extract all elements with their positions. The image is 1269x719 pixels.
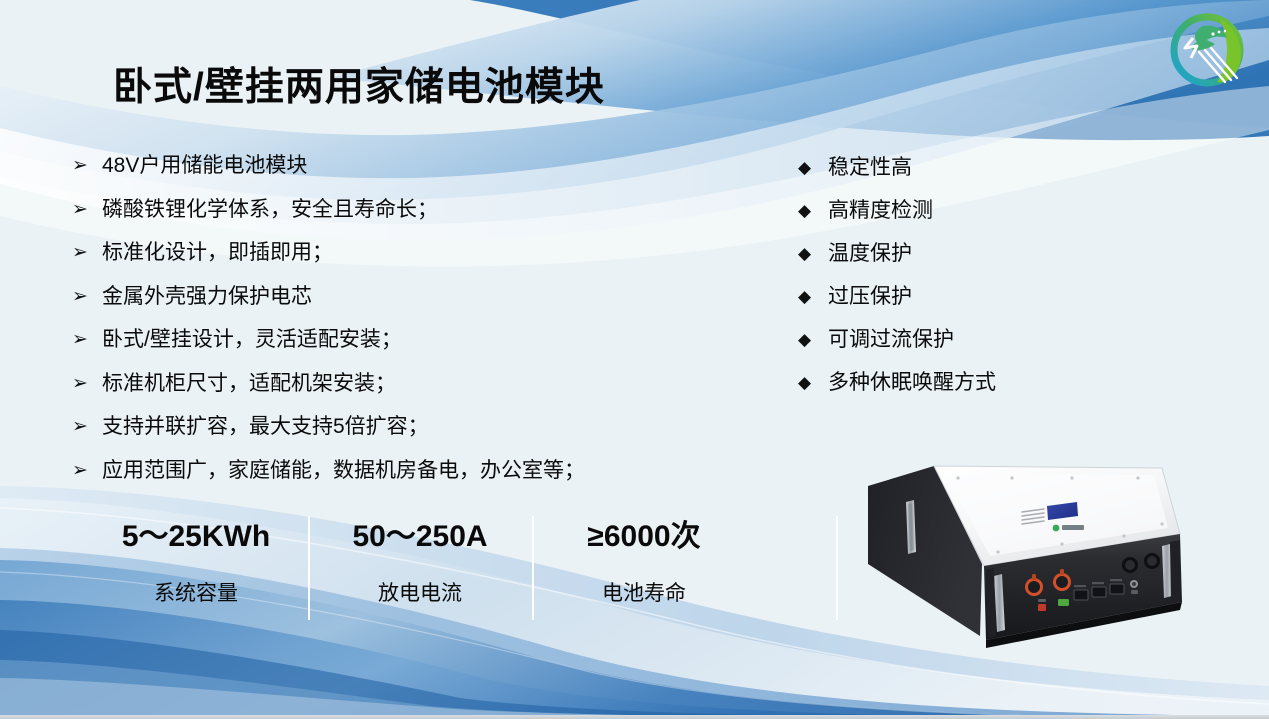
diamond-bullet-icon: ◆ (798, 369, 828, 397)
spec-label: 系统容量 (84, 580, 308, 608)
list-item-label: 支持并联扩容，最大支持5倍扩容； (102, 413, 429, 441)
diamond-bullet-icon: ◆ (798, 154, 828, 182)
list-item: ➢ 标准化设计，即插即用； (72, 239, 732, 283)
arrow-bullet-icon: ➢ (72, 457, 102, 485)
diamond-bullet-icon: ◆ (798, 326, 828, 354)
list-item: ◆ 稳定性高 (798, 154, 1128, 197)
arrow-bullet-icon: ➢ (72, 413, 102, 441)
spec-cycle-life: ≥6000次 电池寿命 (532, 516, 756, 620)
list-item-label: 可调过流保护 (828, 326, 954, 354)
spec-label: 放电电流 (308, 580, 532, 608)
list-item: ◆ 温度保护 (798, 240, 1128, 283)
list-item: ➢ 磷酸铁锂化学体系，安全且寿命长； (72, 196, 732, 240)
spec-divider (836, 516, 838, 620)
spec-capacity: 5～25KWh 系统容量 (84, 516, 308, 620)
list-item: ➢ 标准机柜尺寸，适配机架安装； (72, 370, 732, 414)
list-item-label: 温度保护 (828, 240, 912, 268)
spec-value: 5～25KWh (84, 516, 308, 558)
arrow-bullet-icon: ➢ (72, 326, 102, 354)
diamond-bullet-icon: ◆ (798, 283, 828, 311)
list-item-label: 磷酸铁锂化学体系，安全且寿命长； (102, 196, 438, 224)
list-item: ◆ 过压保护 (798, 283, 1128, 326)
spec-divider (308, 516, 310, 620)
battery-module-photo (862, 444, 1244, 662)
diamond-bullet-icon: ◆ (798, 197, 828, 225)
arrow-bullet-icon: ➢ (72, 283, 102, 311)
list-item-label: 金属外壳强力保护电芯 (102, 283, 312, 311)
key-specs-row: 5～25KWh 系统容量 50～250A 放电电流 ≥6000次 电池寿命 (84, 516, 756, 620)
list-item-label: 标准机柜尺寸，适配机架安装； (102, 370, 396, 398)
list-item-label: 过压保护 (828, 283, 912, 311)
list-item-label: 48V户用储能电池模块 (102, 152, 307, 180)
list-item-label: 多种休眠唤醒方式 (828, 369, 996, 397)
list-item-label: 标准化设计，即插即用； (102, 239, 333, 267)
arrow-bullet-icon: ➢ (72, 370, 102, 398)
spec-value: ≥6000次 (532, 516, 756, 558)
list-item: ➢ 支持并联扩容，最大支持5倍扩容； (72, 413, 732, 457)
features-right-list: ◆ 稳定性高 ◆ 高精度检测 ◆ 温度保护 ◆ 过压保护 ◆ 可调过流保护 ◆ … (798, 154, 1128, 412)
arrow-bullet-icon: ➢ (72, 239, 102, 267)
features-left-list: ➢ 48V户用储能电池模块 ➢ 磷酸铁锂化学体系，安全且寿命长； ➢ 标准化设计… (72, 152, 732, 500)
list-item: ➢ 卧式/壁挂设计，灵活适配安装； (72, 326, 732, 370)
spec-label: 电池寿命 (532, 580, 756, 608)
list-item: ➢ 金属外壳强力保护电芯 (72, 283, 732, 327)
list-item-label: 稳定性高 (828, 154, 912, 182)
slide-canvas: 卧式/壁挂两用家储电池模块 ➢ 48V户用储能电池模块 ➢ 磷酸铁锂化学体系，安… (0, 0, 1269, 719)
diamond-bullet-icon: ◆ (798, 240, 828, 268)
spec-divider (532, 516, 534, 620)
list-item: ◆ 可调过流保护 (798, 326, 1128, 369)
list-item: ◆ 高精度检测 (798, 197, 1128, 240)
arrow-bullet-icon: ➢ (72, 152, 102, 180)
slide-bottom-edge (0, 715, 1269, 719)
list-item-label: 应用范围广，家庭储能，数据机房备电，办公室等； (102, 457, 585, 485)
page-title: 卧式/壁挂两用家储电池模块 (113, 56, 605, 112)
company-logo-icon (1163, 8, 1255, 92)
arrow-bullet-icon: ➢ (72, 196, 102, 224)
spec-value: 50～250A (308, 516, 532, 558)
list-item: ➢ 48V户用储能电池模块 (72, 152, 732, 196)
list-item: ➢ 应用范围广，家庭储能，数据机房备电，办公室等； (72, 457, 732, 501)
list-item-label: 高精度检测 (828, 197, 933, 225)
spec-current: 50～250A 放电电流 (308, 516, 532, 620)
list-item-label: 卧式/壁挂设计，灵活适配安装； (102, 326, 402, 354)
list-item: ◆ 多种休眠唤醒方式 (798, 369, 1128, 412)
